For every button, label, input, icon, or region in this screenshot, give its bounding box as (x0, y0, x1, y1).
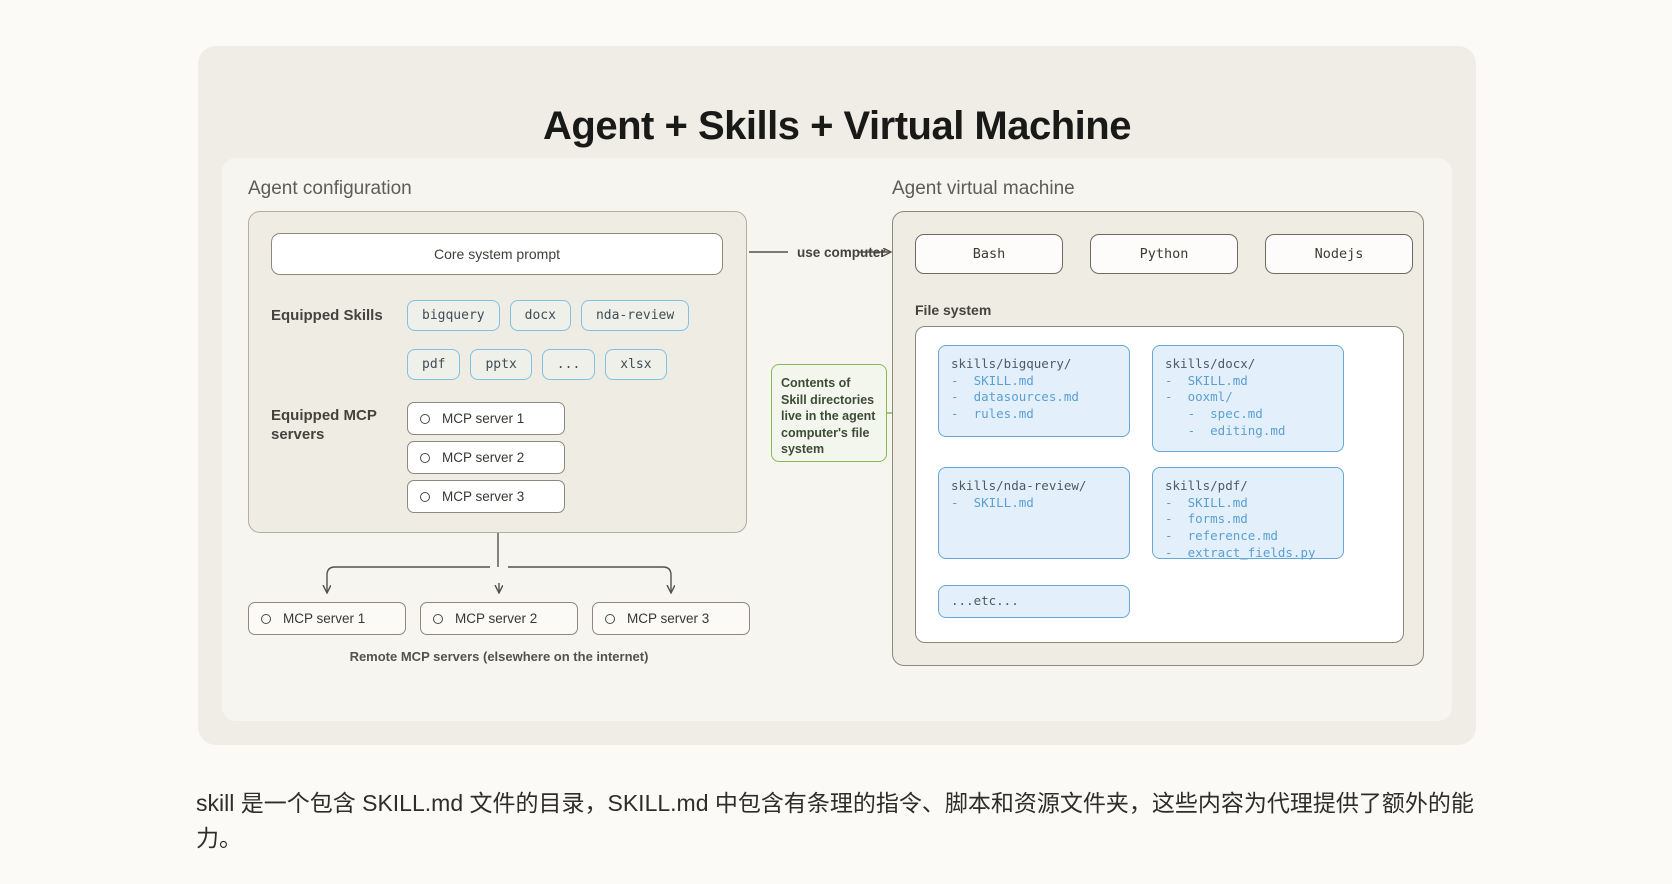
agent-virtual-machine-heading: Agent virtual machine (892, 178, 1075, 200)
use-computer-label: use computer (797, 245, 886, 260)
skill-chip-more[interactable]: ... (542, 349, 595, 380)
fs-card-nda-review[interactable]: skills/nda-review/ - SKILL.md (938, 467, 1130, 559)
fs-card-bigquery-title: skills/bigquery/ (951, 356, 1117, 373)
page-title: Agent + Skills + Virtual Machine (198, 104, 1476, 149)
equipped-mcp-server-2[interactable]: MCP server 2 (407, 441, 565, 474)
remote-mcp-server-3-label: MCP server 3 (627, 611, 709, 626)
fs-card-etc[interactable]: ...etc... (938, 585, 1130, 618)
fs-card-docx-title: skills/docx/ (1165, 356, 1331, 373)
file-system-label: File system (915, 302, 991, 318)
circle-icon (420, 414, 430, 424)
page-caption: skill 是一个包含 SKILL.md 文件的目录，SKILL.md 中包含有… (196, 786, 1476, 856)
equipped-mcp-server-1[interactable]: MCP server 1 (407, 402, 565, 435)
fs-entry: - datasources.md (951, 389, 1117, 406)
fs-card-etc-label: ...etc... (951, 593, 1019, 610)
equipped-mcp-servers-label: Equipped MCP servers (271, 407, 391, 445)
fs-entry: - forms.md (1165, 511, 1331, 528)
runtime-chip-row: Bash Python Nodejs (915, 234, 1413, 274)
equipped-mcp-server-3-label: MCP server 3 (442, 489, 524, 504)
equipped-mcp-server-2-label: MCP server 2 (442, 450, 524, 465)
agent-virtual-machine-box: Bash Python Nodejs File system skills/bi… (892, 211, 1424, 666)
remote-mcp-server-2[interactable]: MCP server 2 (420, 602, 578, 635)
fs-entry: - SKILL.md (1165, 373, 1331, 390)
runtime-chip-python[interactable]: Python (1090, 234, 1238, 274)
fs-entry: - editing.md (1165, 423, 1331, 440)
agent-configuration-heading: Agent configuration (248, 178, 412, 200)
equipped-skills-label: Equipped Skills (271, 307, 401, 326)
skill-directories-note: Contents of Skill directories live in th… (771, 364, 887, 462)
fs-card-pdf-title: skills/pdf/ (1165, 478, 1331, 495)
remote-mcp-servers-caption: Remote MCP servers (elsewhere on the int… (248, 649, 750, 664)
agent-configuration-box: Core system prompt Equipped Skills bigqu… (248, 211, 747, 533)
fs-card-docx[interactable]: skills/docx/ - SKILL.md - ooxml/ - spec.… (1152, 345, 1344, 452)
fs-entry: - SKILL.md (1165, 495, 1331, 512)
circle-icon (420, 453, 430, 463)
runtime-chip-bash[interactable]: Bash (915, 234, 1063, 274)
fs-entry: - rules.md (951, 406, 1117, 423)
file-system-panel: skills/bigquery/ - SKILL.md - datasource… (915, 326, 1404, 643)
fs-entry: - reference.md (1165, 528, 1331, 545)
fs-entry: - ooxml/ (1165, 389, 1331, 406)
fs-entry: - spec.md (1165, 406, 1331, 423)
diagram-card: Agent + Skills + Virtual Machine (198, 46, 1476, 745)
diagram-inner-panel: Agent configuration Agent virtual machin… (222, 158, 1452, 721)
runtime-chip-nodejs[interactable]: Nodejs (1265, 234, 1413, 274)
remote-mcp-server-3[interactable]: MCP server 3 (592, 602, 750, 635)
fs-card-nda-review-title: skills/nda-review/ (951, 478, 1117, 495)
skill-chip-bigquery[interactable]: bigquery (407, 300, 500, 331)
fs-entry: - SKILL.md (951, 495, 1117, 512)
fs-card-bigquery[interactable]: skills/bigquery/ - SKILL.md - datasource… (938, 345, 1130, 437)
skill-chip-row-2: pdf pptx ... xlsx (407, 349, 667, 380)
equipped-mcp-server-3[interactable]: MCP server 3 (407, 480, 565, 513)
skill-chip-nda-review[interactable]: nda-review (581, 300, 689, 331)
skill-chip-pdf[interactable]: pdf (407, 349, 460, 380)
fs-card-pdf[interactable]: skills/pdf/ - SKILL.md - forms.md - refe… (1152, 467, 1344, 559)
remote-mcp-server-2-label: MCP server 2 (455, 611, 537, 626)
equipped-mcp-server-1-label: MCP server 1 (442, 411, 524, 426)
skill-chip-row-1: bigquery docx nda-review (407, 300, 689, 331)
skill-chip-xlsx[interactable]: xlsx (605, 349, 666, 380)
skill-chip-docx[interactable]: docx (510, 300, 571, 331)
core-system-prompt-box: Core system prompt (271, 233, 723, 275)
circle-icon (420, 492, 430, 502)
circle-icon (261, 614, 271, 624)
circle-icon (433, 614, 443, 624)
fs-entry: - SKILL.md (951, 373, 1117, 390)
remote-mcp-server-1-label: MCP server 1 (283, 611, 365, 626)
fs-entry: - extract_fields.py (1165, 545, 1331, 562)
remote-mcp-server-1[interactable]: MCP server 1 (248, 602, 406, 635)
circle-icon (605, 614, 615, 624)
skill-chip-pptx[interactable]: pptx (470, 349, 531, 380)
